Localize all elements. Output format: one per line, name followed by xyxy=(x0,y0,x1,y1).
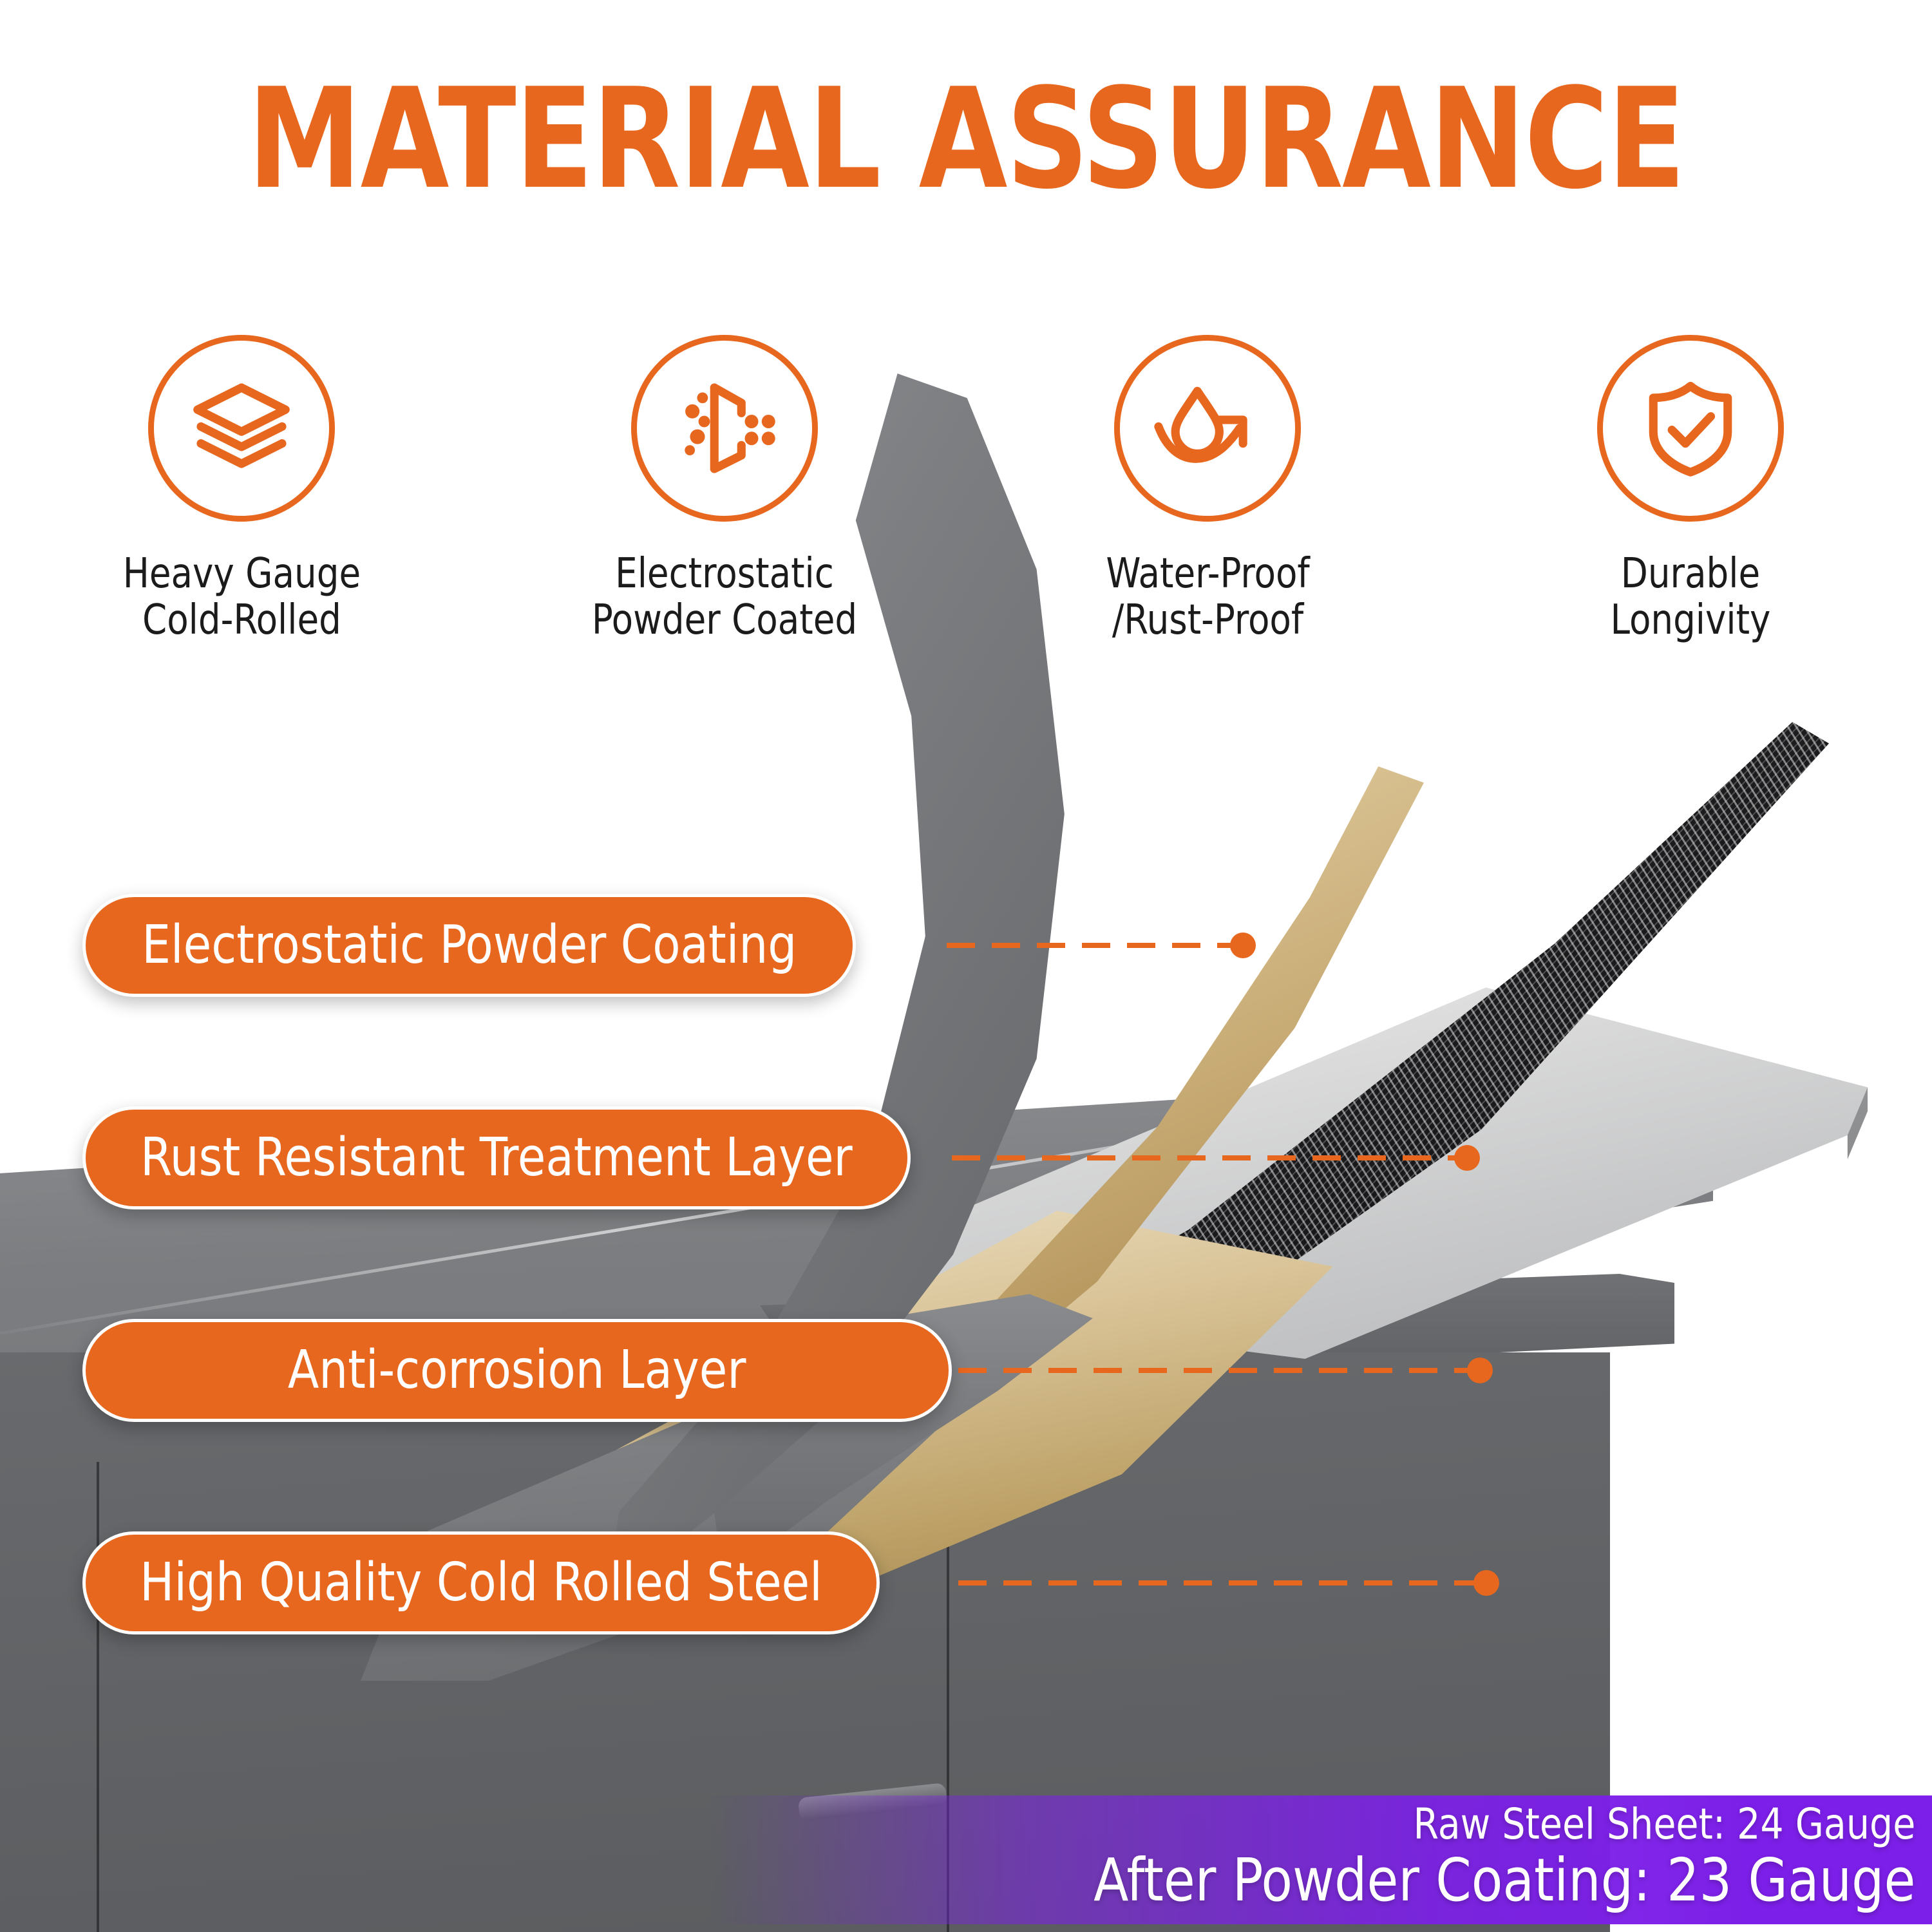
callout-connector-line xyxy=(958,1580,1493,1586)
callout-connector-dot xyxy=(1467,1358,1493,1383)
feature-durable: Durable Longivity xyxy=(1449,335,1932,683)
callout-connector-dot xyxy=(1454,1145,1480,1171)
callout-connector-line xyxy=(958,1368,1486,1373)
feature-label-line2: Cold-Rolled xyxy=(122,598,360,644)
feature-icon-circle xyxy=(631,335,818,522)
feature-icon-circle xyxy=(148,335,335,522)
callout-label: Electrostatic Powder Coating xyxy=(142,919,797,972)
feature-heavy-gauge: Heavy Gauge Cold-Rolled xyxy=(0,335,483,683)
cabinet-panel-seam xyxy=(97,1462,99,1932)
layers-icon xyxy=(187,374,296,482)
callout-connector-line xyxy=(947,943,1249,948)
feature-label: Water-Proof /Rust-Proof xyxy=(1106,551,1309,643)
feature-label-line1: Electrostatic xyxy=(592,551,857,598)
callout-label: Rust Resistant Treatment Layer xyxy=(140,1132,853,1184)
feature-label-line2: /Rust-Proof xyxy=(1106,598,1309,644)
layer-illustration xyxy=(0,657,1932,1932)
water-drop-icon xyxy=(1153,374,1262,482)
callout-connector-line xyxy=(952,1155,1473,1160)
feature-label-line2: Powder Coated xyxy=(592,598,857,644)
gauge-banner-line1: Raw Steel Sheet: 24 Gauge xyxy=(1413,1799,1915,1849)
feature-label-line1: Heavy Gauge xyxy=(122,551,360,598)
feature-label-line1: Water-Proof xyxy=(1106,551,1309,598)
powder-spray-icon xyxy=(670,374,779,482)
gauge-banner-line2: After Powder Coating: 23 Gauge xyxy=(1094,1846,1915,1915)
callout-label: Anti-corrosion Layer xyxy=(288,1344,746,1397)
callout-connector-dot xyxy=(1230,933,1256,958)
callout-label: High Quality Cold Rolled Steel xyxy=(140,1557,822,1609)
feature-label: Heavy Gauge Cold-Rolled xyxy=(122,551,360,643)
callout-powder-coating[interactable]: Electrostatic Powder Coating xyxy=(82,894,856,997)
gauge-banner: Raw Steel Sheet: 24 Gauge After Powder C… xyxy=(708,1795,1932,1924)
feature-icon-circle xyxy=(1114,335,1301,522)
callout-rust-resistant[interactable]: Rust Resistant Treatment Layer xyxy=(82,1106,911,1209)
page-title: MATERIAL ASSURANCE xyxy=(77,70,1855,208)
infographic-canvas: MATERIAL ASSURANCE Heavy Gauge Cold-Roll… xyxy=(0,0,1932,1932)
callout-cold-rolled-steel[interactable]: High Quality Cold Rolled Steel xyxy=(82,1531,880,1634)
feature-label-line2: Longivity xyxy=(1611,598,1771,644)
feature-label: Electrostatic Powder Coated xyxy=(592,551,857,643)
callout-connector-dot xyxy=(1473,1570,1499,1596)
feature-label-line1: Durable xyxy=(1611,551,1771,598)
callout-anti-corrosion[interactable]: Anti-corrosion Layer xyxy=(82,1319,952,1422)
feature-icon-circle xyxy=(1597,335,1784,522)
feature-label: Durable Longivity xyxy=(1611,551,1771,643)
shield-check-icon xyxy=(1636,374,1745,482)
